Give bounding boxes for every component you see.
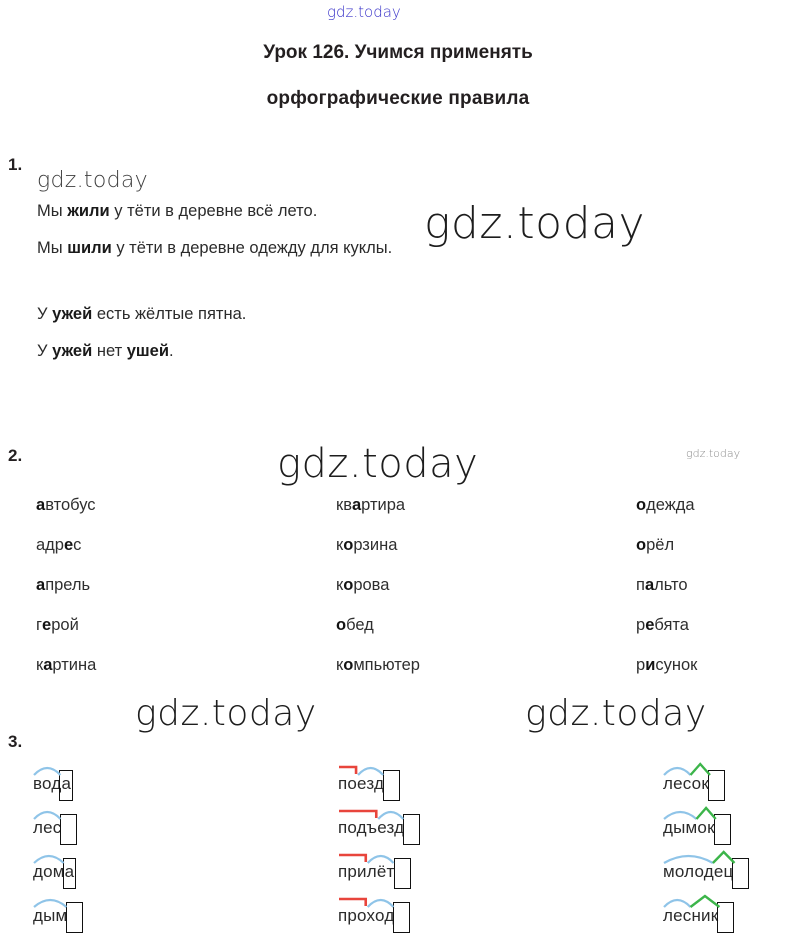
word-highlight: и [645, 656, 655, 674]
morpheme-column-1: водалесдомадым [33, 764, 338, 940]
sentence-highlight: шили [67, 239, 112, 257]
exercise-number-2: 2. [8, 446, 22, 466]
sentence-text: У [37, 305, 52, 323]
vocabulary-word: рисунок [636, 645, 756, 685]
word-text: рова [353, 576, 389, 594]
vocabulary-word: квартира [336, 485, 636, 525]
watermark-top: gdz.today [327, 3, 401, 21]
word-highlight: а [36, 576, 45, 594]
morpheme-analysis-word: молодец [663, 852, 793, 896]
morpheme-analysis-word: вода [33, 764, 338, 808]
word-text: ртина [52, 656, 96, 674]
word-text: кв [336, 496, 352, 514]
exercise-3-morpheme-columns: водалесдомадым поездподъездприлётпроход … [0, 764, 796, 940]
watermark-large-ex3-right: gdz.today [525, 693, 707, 734]
word-text: р [636, 616, 645, 634]
morpheme-analysis-word: дома [33, 852, 338, 896]
word-highlight: а [352, 496, 361, 514]
sentence-highlight: ушей [127, 342, 169, 360]
root-arc-icon [378, 812, 403, 819]
morpheme-markers [338, 852, 425, 896]
vocabulary-word: герой [36, 605, 336, 645]
word-text: адр [36, 536, 64, 554]
word-highlight: о [343, 576, 353, 594]
page-title-line-2: орфографические правила [0, 76, 796, 122]
root-arc-icon [34, 812, 60, 819]
watermark-small-ex2: gdz.today [686, 447, 740, 460]
vocabulary-word: корова [336, 565, 636, 605]
prefix-bracket-icon [339, 811, 376, 818]
vocabulary-word: корзина [336, 525, 636, 565]
sentence-text: нет [92, 342, 126, 360]
word-highlight: а [36, 496, 45, 514]
morpheme-analysis-word: поезд [338, 764, 663, 808]
exercise-number-3: 3. [8, 732, 22, 752]
morpheme-markers [33, 852, 104, 896]
word-text: бята [654, 616, 689, 634]
exercise-1-sentences: Мы жили у тёти в деревне всё лето.Мы шил… [37, 193, 677, 370]
sentence-line: Мы жили у тёти в деревне всё лето. [37, 193, 677, 230]
sentence-text: Мы [37, 239, 67, 257]
word-highlight: е [42, 616, 51, 634]
root-arc-icon [664, 856, 713, 863]
word-column-3: одеждаорёлпальторебятарисунок [636, 485, 756, 685]
morpheme-analysis-word: прилёт [338, 852, 663, 896]
morpheme-analysis-word: дымок [663, 808, 793, 852]
morpheme-markers [338, 764, 414, 808]
word-text: с [73, 536, 81, 554]
sentence-line: У ужей есть жёлтые пятна. [37, 296, 677, 333]
word-column-2: квартиракорзинакороваобедкомпьютер [336, 485, 636, 685]
suffix-caret-icon [713, 852, 735, 863]
root-arc-icon [664, 768, 690, 775]
vocabulary-word: автобус [36, 485, 336, 525]
word-text: бед [346, 616, 374, 634]
word-highlight: о [636, 496, 646, 514]
root-arc-icon [368, 856, 394, 863]
root-arc-icon [664, 812, 696, 819]
word-highlight: е [645, 616, 654, 634]
sentence-highlight: ужей [52, 305, 92, 323]
morpheme-markers [663, 896, 748, 940]
vocabulary-word: апрель [36, 565, 336, 605]
root-arc-icon [34, 856, 64, 863]
word-text: рзина [353, 536, 397, 554]
sentence-highlight: ужей [52, 342, 92, 360]
word-text: льто [654, 576, 687, 594]
morpheme-analysis-word: дым [33, 896, 338, 940]
exercise-number-1: 1. [8, 155, 22, 175]
morpheme-markers [663, 852, 763, 896]
vocabulary-word: компьютер [336, 645, 636, 685]
morpheme-markers [33, 764, 101, 808]
word-text: рёл [646, 536, 674, 554]
root-arc-icon [34, 900, 66, 907]
sentence-text: у тёти в деревне всё лето. [110, 202, 318, 220]
word-highlight: о [343, 656, 353, 674]
morpheme-analysis-word: проход [338, 896, 663, 940]
morpheme-analysis-word: лесок [663, 764, 793, 808]
word-text: рой [51, 616, 79, 634]
word-text: р [636, 656, 645, 674]
suffix-caret-icon [690, 764, 709, 775]
word-highlight: о [343, 536, 353, 554]
morpheme-analysis-word: лес [33, 808, 338, 852]
word-text: мпьютер [353, 656, 420, 674]
vocabulary-word: картина [36, 645, 336, 685]
word-text: втобус [45, 496, 95, 514]
morpheme-column-2: поездподъездприлётпроход [338, 764, 663, 940]
vocabulary-word: пальто [636, 565, 756, 605]
root-arc-icon [34, 768, 60, 775]
sentence-highlight: жили [67, 202, 109, 220]
morpheme-markers [33, 896, 97, 940]
watermark-inline-ex1: gdz.today [37, 168, 148, 193]
word-highlight: е [64, 536, 73, 554]
word-text: дежда [646, 496, 694, 514]
sentence-gap [37, 267, 677, 296]
suffix-caret-icon [696, 808, 715, 819]
vocabulary-word: обед [336, 605, 636, 645]
sentence-text: . [169, 342, 174, 360]
word-text: ртира [361, 496, 405, 514]
sentence-line: У ужей нет ушей. [37, 333, 677, 370]
prefix-bracket-icon [339, 767, 356, 774]
root-arc-icon [664, 900, 690, 907]
vocabulary-word: ребята [636, 605, 756, 645]
morpheme-markers [663, 808, 745, 852]
sentence-line: Мы шили у тёти в деревне одежду для кукл… [37, 230, 677, 267]
page-title-line-1: Урок 126. Учимся применять [0, 30, 796, 76]
word-text: сунок [655, 656, 697, 674]
prefix-bracket-icon [339, 899, 366, 906]
watermark-large-ex2: gdz.today [277, 441, 478, 487]
morpheme-markers [338, 896, 424, 940]
sentence-text: есть жёлтые пятна. [92, 305, 246, 323]
morpheme-markers [663, 764, 739, 808]
morpheme-markers [338, 808, 434, 852]
word-column-1: автобусадресапрельгеройкартина [36, 485, 336, 685]
page-title: Урок 126. Учимся применять орфографическ… [0, 30, 796, 122]
sentence-text: У [37, 342, 52, 360]
watermark-large-ex3-left: gdz.today [135, 693, 317, 734]
sentence-text: у тёти в деревне одежду для куклы. [112, 239, 393, 257]
word-text: п [636, 576, 645, 594]
root-arc-icon [368, 900, 394, 907]
prefix-bracket-icon [339, 855, 366, 862]
word-highlight: а [645, 576, 654, 594]
word-highlight: о [636, 536, 646, 554]
vocabulary-word: орёл [636, 525, 756, 565]
root-arc-icon [358, 768, 383, 775]
sentence-text: Мы [37, 202, 67, 220]
exercise-2-word-columns: автобусадресапрельгеройкартина квартирак… [0, 485, 796, 685]
vocabulary-word: адрес [36, 525, 336, 565]
suffix-caret-icon [690, 896, 719, 907]
vocabulary-word: одежда [636, 485, 756, 525]
morpheme-analysis-word: подъезд [338, 808, 663, 852]
morpheme-analysis-word: лесник [663, 896, 793, 940]
word-text: прель [45, 576, 90, 594]
word-highlight: о [336, 616, 346, 634]
morpheme-markers [33, 808, 91, 852]
morpheme-column-3: лесокдымокмолодецлесник [663, 764, 793, 940]
